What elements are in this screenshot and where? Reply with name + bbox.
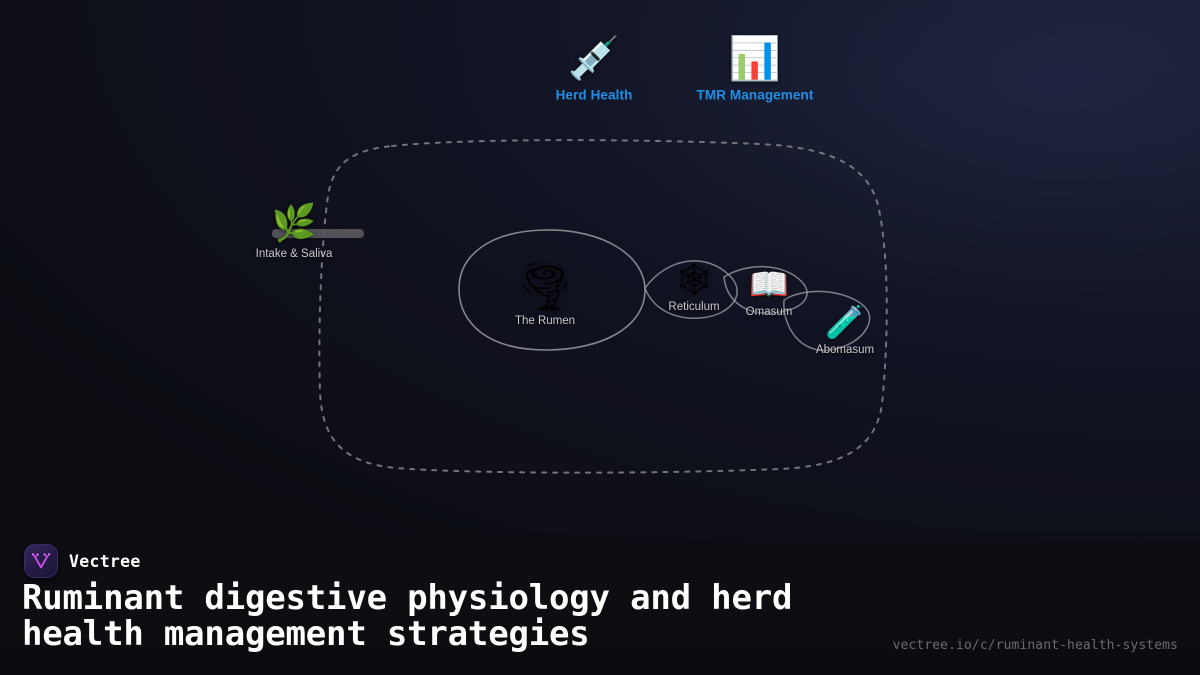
bar-chart-icon: 📊 (729, 38, 781, 80)
syringe-icon: 💉 (568, 38, 620, 80)
brand-name: Vectree (69, 552, 141, 571)
footer-bar: Vectree Ruminant digestive physiology an… (0, 530, 1200, 675)
brand-row[interactable]: Vectree (24, 544, 141, 578)
node-intake-saliva[interactable]: 🌿 Intake & Saliva (256, 206, 333, 260)
node-omasum[interactable]: 📖 Omasum (746, 268, 793, 318)
float-node-label: TMR Management (697, 88, 814, 103)
float-node-tmr-management[interactable]: 📊 TMR Management (697, 38, 814, 103)
node-label: Reticulum (668, 301, 719, 313)
footer-url: vectree.io/c/ruminant-health-systems (893, 638, 1178, 653)
spider-web-icon: 🕸 (674, 263, 715, 295)
herb-icon: 🌿 (272, 206, 317, 242)
digestive-tract-boundary (319, 140, 886, 473)
node-label: Intake & Saliva (256, 248, 333, 260)
float-node-herd-health[interactable]: 💉 Herd Health (556, 38, 633, 103)
page-title: Ruminant digestive physiology and herd h… (22, 580, 902, 653)
vectree-logo-glyph (30, 550, 52, 572)
tornado-icon: 🌪 (516, 263, 574, 309)
test-tube-icon: 🧪 (825, 306, 865, 338)
float-node-label: Herd Health (556, 88, 633, 103)
node-the-rumen[interactable]: 🌪 The Rumen (515, 263, 575, 327)
node-label: The Rumen (515, 315, 575, 327)
open-book-icon: 📖 (749, 268, 789, 300)
node-reticulum[interactable]: 🕸 Reticulum (668, 263, 719, 313)
node-label: Abomasum (816, 344, 874, 356)
node-abomasum[interactable]: 🧪 Abomasum (816, 306, 874, 356)
node-label: Omasum (746, 306, 793, 318)
vectree-logo-icon (24, 544, 58, 578)
